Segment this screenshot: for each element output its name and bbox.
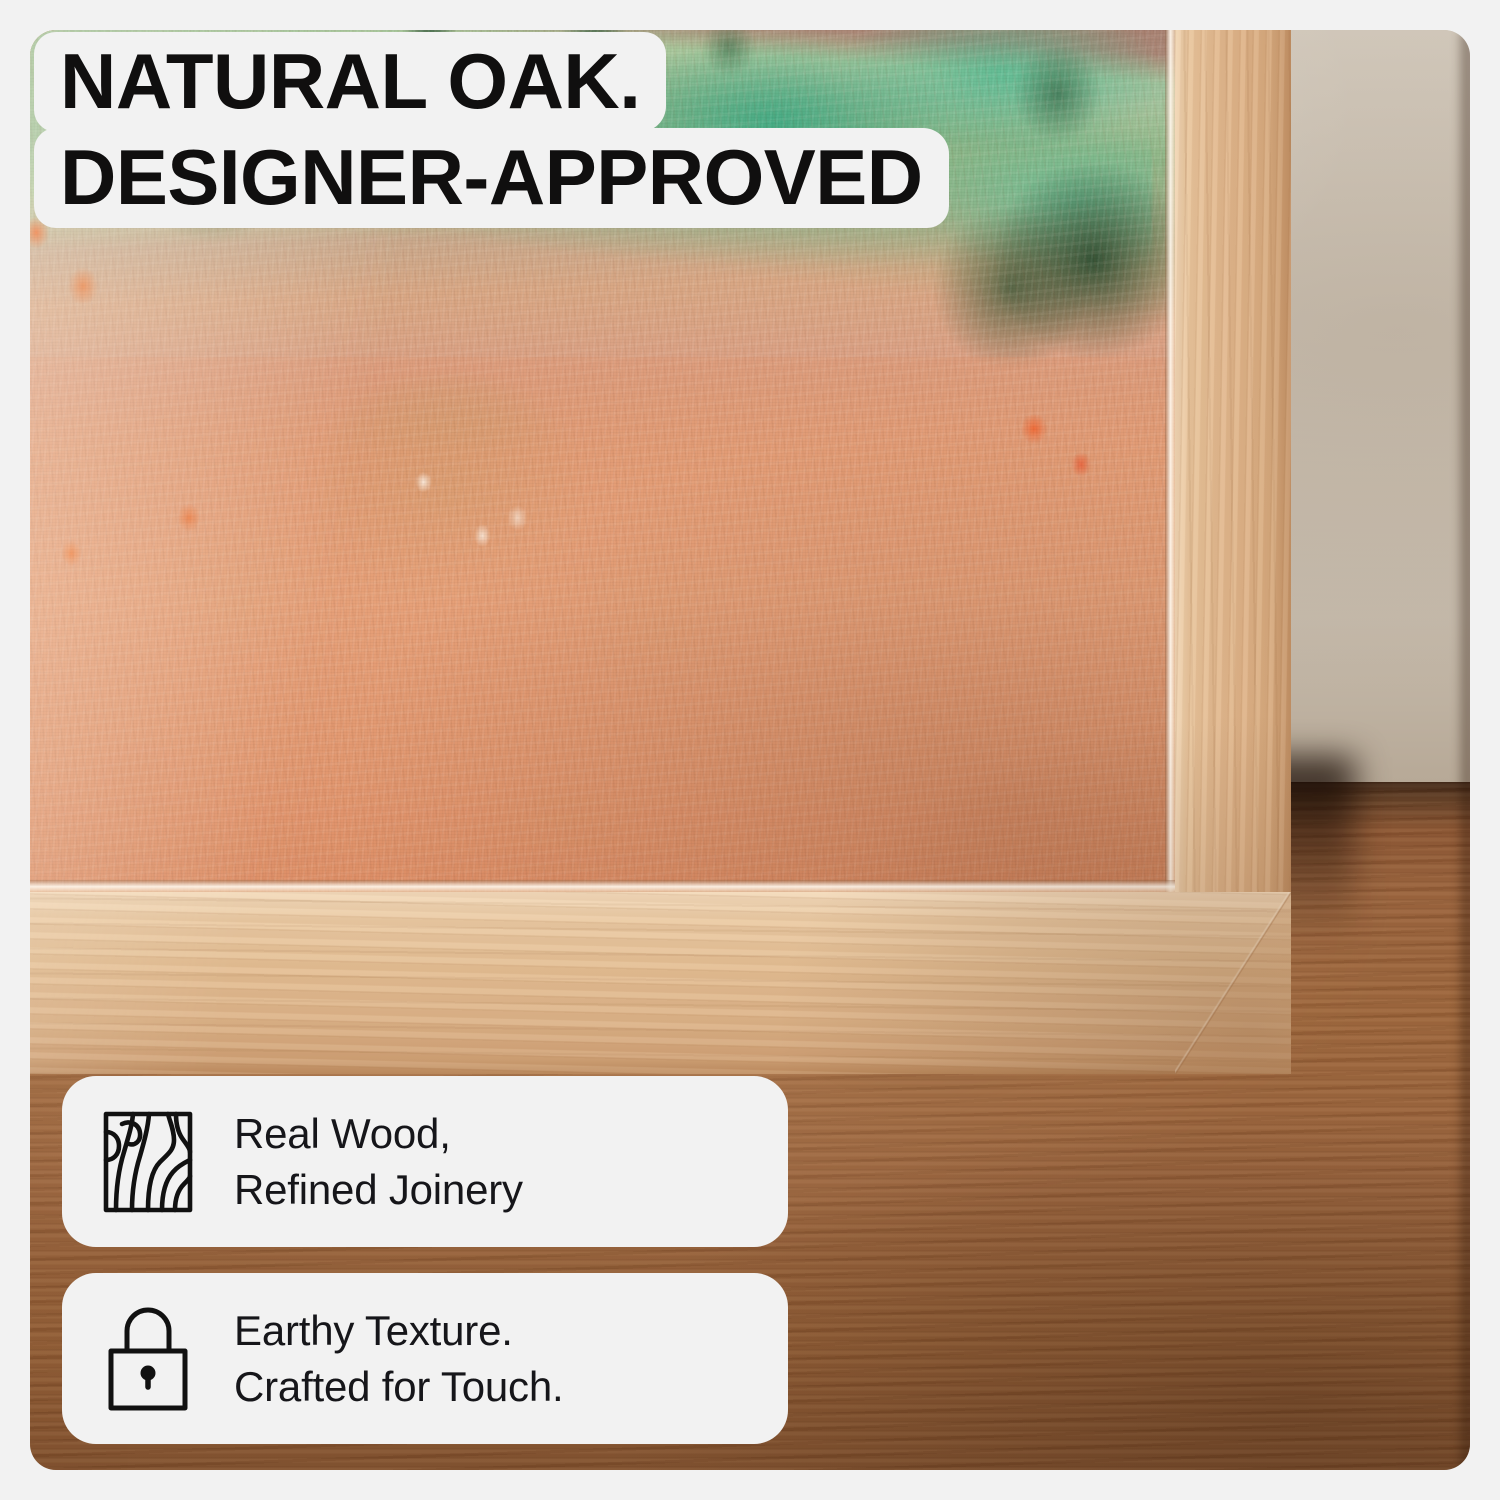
feature-line-1: Earthy Texture.	[234, 1307, 513, 1354]
frame-edge-shadow	[1461, 30, 1470, 1470]
feature-card-earthy-texture: Earthy Texture. Crafted for Touch.	[62, 1273, 788, 1444]
feature-badge-list: Real Wood, Refined Joinery Earthy Textur…	[62, 1076, 788, 1444]
feature-line-1: Real Wood,	[234, 1110, 451, 1157]
product-marketing-image: NATURAL OAK. DESIGNER-APPROVED Rea	[0, 0, 1500, 1500]
wood-grain-icon	[96, 1110, 200, 1214]
feature-line-2: Refined Joinery	[234, 1162, 523, 1217]
feature-card-real-wood: Real Wood, Refined Joinery	[62, 1076, 788, 1247]
headline-line-1: NATURAL OAK.	[34, 32, 666, 132]
lock-icon	[96, 1307, 200, 1411]
headline-line-2: DESIGNER-APPROVED	[34, 128, 949, 228]
feature-line-2: Crafted for Touch.	[234, 1359, 563, 1414]
feature-card-text: Earthy Texture. Crafted for Touch.	[234, 1303, 563, 1414]
feature-card-text: Real Wood, Refined Joinery	[234, 1106, 523, 1217]
headline: NATURAL OAK. DESIGNER-APPROVED	[34, 32, 949, 228]
